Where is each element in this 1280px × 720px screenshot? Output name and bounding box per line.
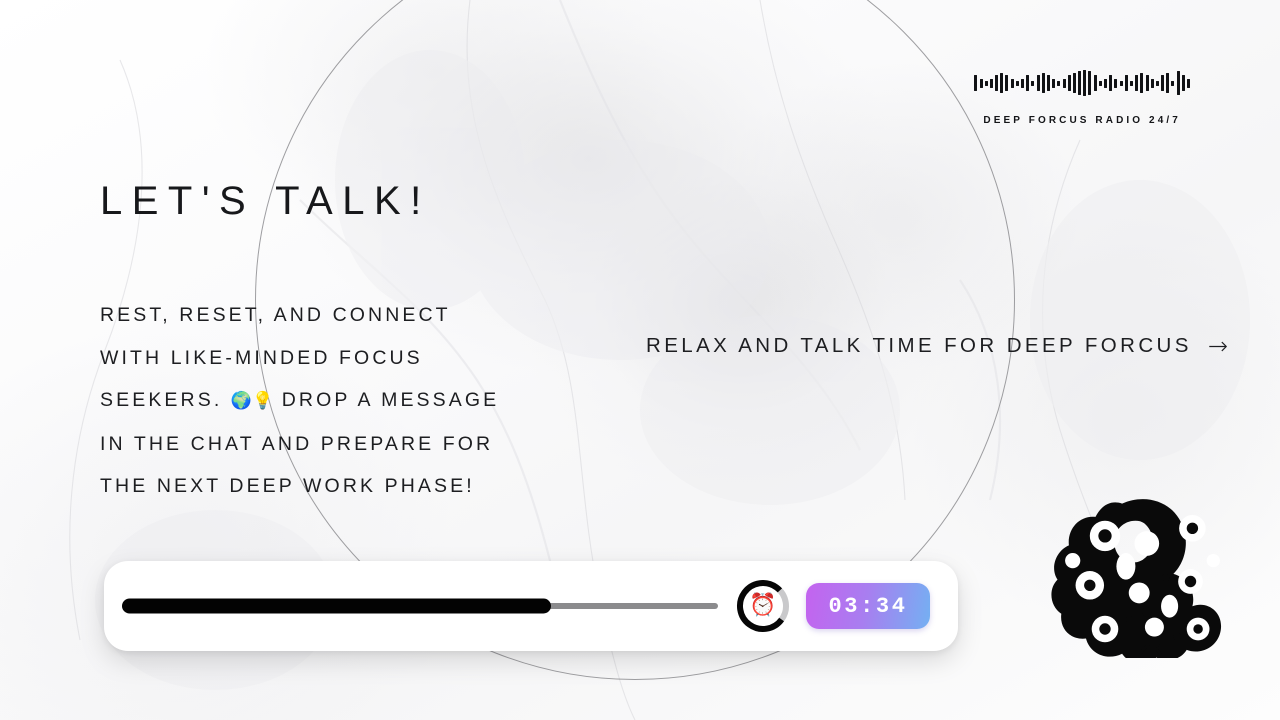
waveform-bar [1099,81,1102,86]
alarm-clock-icon: ⏰ [749,595,776,617]
waveform-bar [1177,71,1180,95]
audio-player-card: ⏰ 03:34 [104,561,958,651]
time-remaining-badge[interactable]: 03:34 [806,583,930,629]
page-title: LET'S TALK! [100,181,431,221]
waveform-bar [1047,75,1050,91]
body-line-1: REST, RESET, AND CONNECT [100,294,570,337]
waveform-bar [1151,79,1154,88]
waveform-bar [1187,79,1190,88]
body-line-4: IN THE CHAT AND PREPARE FOR [100,423,570,466]
progress-fill [122,599,551,614]
waveform-bar [1140,73,1143,93]
waveform-bar [1005,75,1008,91]
waveform-bar [1052,79,1055,88]
body-line-3: SEEKERS. 🌍💡 DROP A MESSAGE [100,379,570,423]
body-line-3-pre: SEEKERS. [100,389,231,411]
waveform-bar [1130,81,1133,86]
waveform-bar [1094,75,1097,91]
waveform-bar [1068,75,1071,91]
waveform-bar [1026,75,1029,91]
body-copy: REST, RESET, AND CONNECT WITH LIKE-MINDE… [100,294,570,508]
waveform-bar [1166,73,1169,93]
tagline: RELAX AND TALK TIME FOR DEEP FORCUS → [646,334,1228,358]
waveform-bar [1078,71,1081,95]
waveform-bar [990,79,993,88]
brand-logo: DEEP FORCUS RADIO 24/7 [974,60,1190,126]
waveform-bar [1063,79,1066,88]
timer-ring-button[interactable]: ⏰ [736,579,790,633]
waveform-bar [1016,81,1019,86]
waveform-bar [1114,79,1117,88]
waveform-bar [974,75,977,91]
waveform-bar [1125,75,1128,91]
waveform-bar [980,79,983,88]
globe-icon: 🌍 [231,391,252,411]
poster-stage: DEEP FORCUS RADIO 24/7 LET'S TALK! REST,… [0,0,1280,720]
waveform-bar [1073,73,1076,93]
waveform-bar [1146,75,1149,91]
waveform-bar [1042,73,1045,93]
body-line-5: THE NEXT DEEP WORK PHASE! [100,465,570,508]
body-line-3-post: DROP A MESSAGE [273,389,499,411]
waveform-bar [1000,73,1003,93]
waveform-bar [1109,75,1112,91]
waveform-bar [1120,81,1123,86]
waveform-bar [1161,75,1164,91]
waveform-bar [995,75,998,91]
waveform-bar [1171,81,1174,86]
waveform-bar [1135,75,1138,91]
body-line-2: WITH LIKE-MINDED FOCUS [100,337,570,380]
waveform-bar [1031,81,1034,86]
arrow-right-icon: → [1208,334,1228,358]
brand-caption: DEEP FORCUS RADIO 24/7 [983,115,1181,126]
waveform-bar [1156,81,1159,86]
audio-waveform-icon [974,60,1190,106]
tagline-text: RELAX AND TALK TIME FOR DEEP FORCUS [646,334,1192,358]
waveform-bar [1104,79,1107,88]
waveform-bar [1182,75,1185,91]
waveform-bar [1088,71,1091,95]
abstract-bubbles-artwork [1048,486,1238,658]
waveform-bar [1021,79,1024,88]
lightbulb-icon: 💡 [252,391,273,411]
waveform-bar [1037,75,1040,91]
waveform-bar [985,81,988,86]
waveform-bar [1083,70,1086,96]
waveform-bar [1057,81,1060,86]
waveform-bar [1011,79,1014,88]
progress-bar[interactable] [122,598,718,614]
